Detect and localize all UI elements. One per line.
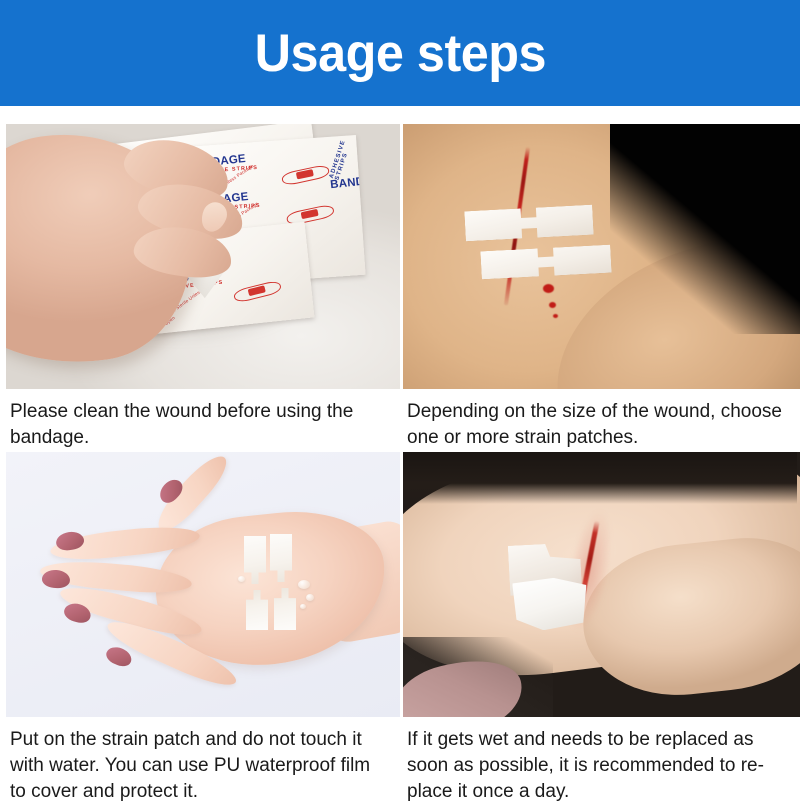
step-card-1: BANDAGE ADHESIVE STRIPS Contents of Ster… bbox=[6, 124, 400, 451]
photo-arm-cut-two-strain-patches bbox=[403, 124, 800, 389]
step-caption-1: Please clean the wound before using the … bbox=[6, 389, 394, 451]
step-card-2: Depending on the size of the wound, choo… bbox=[403, 124, 797, 451]
water-droplet bbox=[238, 576, 245, 582]
blood-drop bbox=[553, 314, 558, 318]
dark-background-mask bbox=[610, 124, 800, 334]
water-droplet bbox=[300, 604, 306, 609]
bandage-illustration-icon bbox=[233, 279, 283, 303]
step-caption-3: Put on the strain patch and do not touch… bbox=[6, 717, 394, 805]
steps-grid: BANDAGE ADHESIVE STRIPS Contents of Ster… bbox=[0, 106, 800, 800]
page-header-banner: Usage steps bbox=[0, 0, 800, 106]
blood-drop bbox=[543, 284, 554, 293]
step-caption-4: If it gets wet and needs to be replaced … bbox=[403, 717, 791, 805]
photo-hand-peeling-bandage-packets: BANDAGE ADHESIVE STRIPS Contents of Ster… bbox=[6, 124, 400, 389]
page-title: Usage steps bbox=[254, 27, 545, 80]
step-card-3: Put on the strain patch and do not touch… bbox=[6, 452, 400, 805]
step-caption-2: Depending on the size of the wound, choo… bbox=[403, 389, 791, 451]
photo-hand-patches-water-droplets bbox=[6, 452, 400, 717]
water-droplet bbox=[298, 580, 310, 589]
photo-arm-wet-patch-peeling bbox=[403, 452, 800, 717]
water-droplet bbox=[306, 594, 314, 601]
dark-background-mask bbox=[403, 452, 797, 504]
step-card-4: If it gets wet and needs to be replaced … bbox=[403, 452, 797, 805]
blood-drop bbox=[549, 302, 556, 308]
